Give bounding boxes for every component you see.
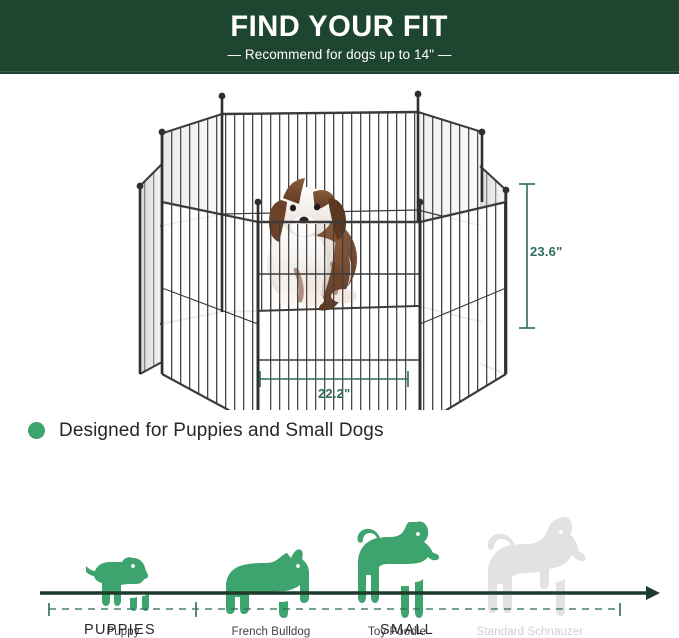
size-range-axis xyxy=(0,0,679,638)
axis-category-label-small: SMALL xyxy=(380,622,434,638)
axis-category-label-puppies: PUPPIES xyxy=(84,622,156,638)
